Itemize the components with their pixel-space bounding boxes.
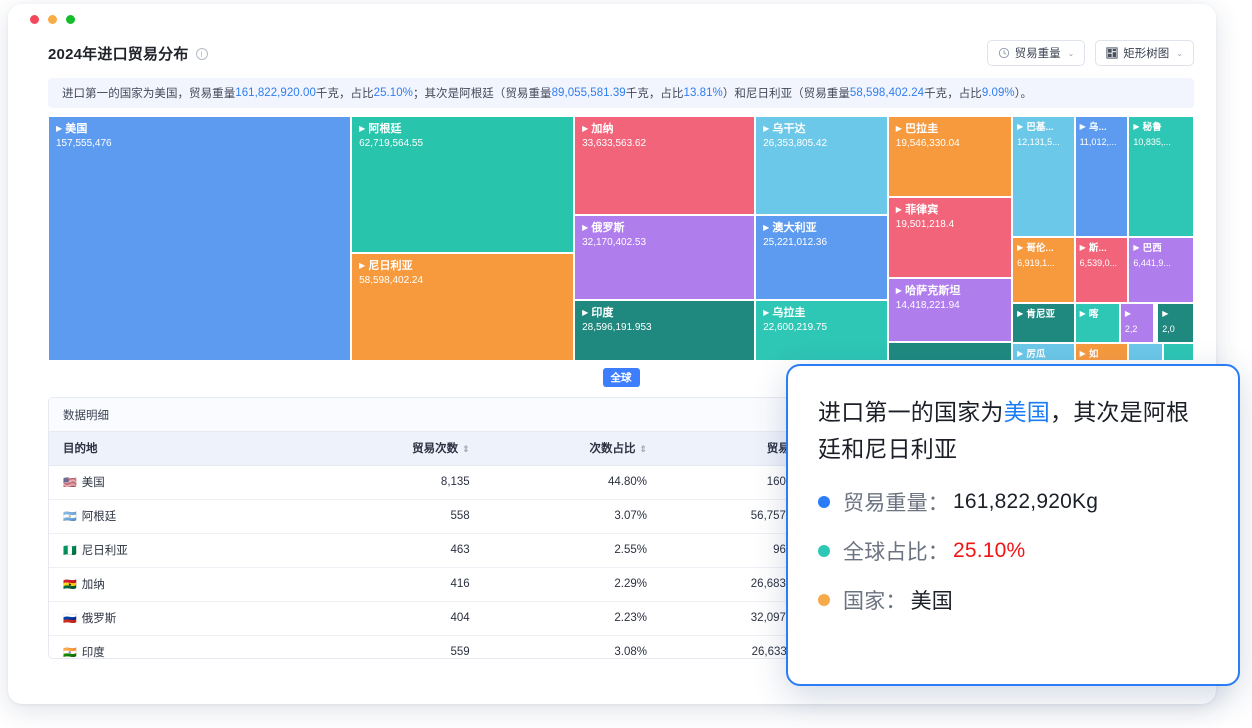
treemap-tile-label: ▶阿根廷 [359, 123, 573, 136]
treemap-tile[interactable] [1128, 343, 1162, 361]
table-cell-dest: 🇺🇸美国 [49, 465, 306, 499]
summary-part-2: 千克，占比 [316, 85, 374, 101]
treemap-tile-value: 2,2 [1125, 322, 1153, 336]
chevron-down-icon: ⌄ [1176, 49, 1183, 58]
treemap-tile[interactable]: ▶乌干达26,353,805.42 [755, 116, 888, 215]
country-name-label: 加纳 [82, 579, 105, 591]
legend-dot-icon [818, 594, 830, 606]
play-triangle-icon: ▶ [763, 223, 769, 232]
table-header-label: 贸易次数 [412, 443, 458, 455]
treemap-chart[interactable]: ▶美国157,555,476▶阿根廷62,719,564.55▶尼日利亚58,5… [48, 116, 1194, 361]
breadcrumb-item-global[interactable]: 全球 [603, 368, 640, 387]
play-triangle-icon: ▶ [1017, 309, 1023, 318]
treemap-tile-label: ▶肯尼亚 [1017, 308, 1074, 321]
country-name-label: 美国 [82, 477, 105, 489]
treemap-tile[interactable]: ▶斯...6,539,0... [1075, 237, 1129, 303]
clock-icon [998, 47, 1010, 59]
table-cell-cpct: 2.29% [484, 567, 661, 601]
country-name-label: 印度 [82, 647, 105, 659]
treemap-tile[interactable]: ▶阿根廷62,719,564.55 [351, 116, 574, 253]
treemap-tile[interactable]: ▶哥伦...6,919,1... [1012, 237, 1075, 303]
treemap-tile-value: 22,600,219.75 [763, 321, 887, 335]
chart-tooltip-card: 进口第一的国家为美国，其次是阿根廷和尼日利亚 贸易重量：161,822,920K… [786, 364, 1240, 686]
chevron-down-icon: ⌄ [1068, 49, 1075, 58]
table-cell-count: 416 [306, 567, 483, 601]
tooltip-row-value: 25.10% [953, 539, 1025, 563]
tooltip-row: 贸易重量：161,822,920Kg [818, 487, 1208, 517]
window-titlebar [8, 4, 1216, 32]
tooltip-row: 国家：美国 [818, 585, 1208, 615]
table-header-dest: 目的地 [49, 432, 306, 465]
treemap-tile[interactable]: ▶尼日利亚58,598,402.24 [351, 253, 574, 361]
country-name-label: 尼日利亚 [82, 545, 128, 557]
page-title: 2024年进口贸易分布 [48, 43, 189, 64]
treemap-tile-label: ▶乌干达 [763, 123, 887, 136]
treemap-tile-value: 32,170,402.53 [582, 236, 754, 250]
treemap-tile[interactable]: ▶乌拉圭22,600,219.75 [755, 300, 888, 361]
table-cell-cpct: 2.23% [484, 601, 661, 635]
treemap-tile[interactable]: ▶乌...11,012,... [1075, 116, 1129, 237]
minimize-button[interactable] [48, 15, 57, 24]
play-triangle-icon: ▶ [763, 308, 769, 317]
treemap-tile-label: ▶ [1125, 308, 1153, 321]
country-flag-icon: 🇺🇸 [63, 477, 77, 489]
treemap-tile-label: ▶如 [1080, 348, 1128, 361]
table-cell-count: 559 [306, 635, 483, 659]
treemap-tile-value: 12,131,5... [1017, 135, 1074, 149]
treemap-tile[interactable]: ▶菲律宾19,501,218.4 [888, 197, 1012, 278]
table-cell-dest: 🇳🇬尼日利亚 [49, 533, 306, 567]
country-flag-icon: 🇦🇷 [63, 511, 77, 523]
legend-dot-icon [818, 496, 830, 508]
tooltip-row-value: 美国 [911, 585, 953, 615]
treemap-tile-label: ▶厉瓜 [1017, 348, 1074, 361]
table-cell-dest: 🇷🇺俄罗斯 [49, 601, 306, 635]
card-header: 2024年进口贸易分布 i 贸易重量 ⌄ [8, 32, 1216, 74]
table-cell-dest: 🇮🇳印度 [49, 635, 306, 659]
treemap-tile-label: ▶喀 [1080, 308, 1119, 321]
tooltip-title-highlight: 美国 [1004, 399, 1050, 425]
treemap-tile-label: ▶ [1162, 308, 1193, 321]
table-cell-cpct: 2.55% [484, 533, 661, 567]
summary-value-weight-3: 58,598,402.24 [850, 87, 924, 99]
summary-value-weight-2: 89,055,581.39 [552, 87, 626, 99]
treemap-tile-value: 2,0 [1162, 322, 1193, 336]
play-triangle-icon: ▶ [359, 124, 365, 133]
summary-part-4: 千克，占比 [626, 85, 684, 101]
play-triangle-icon: ▶ [1162, 309, 1168, 318]
play-triangle-icon: ▶ [582, 124, 588, 133]
close-button[interactable] [30, 15, 39, 24]
summary-part-1: 进口第一的国家为美国，贸易重量 [62, 85, 235, 101]
treemap-tile-label: ▶巴西 [1133, 242, 1193, 255]
country-flag-icon: 🇬🇭 [63, 579, 77, 591]
treemap-tile-value: 19,501,218.4 [896, 218, 1011, 232]
play-triangle-icon: ▶ [582, 308, 588, 317]
play-triangle-icon: ▶ [1017, 122, 1023, 131]
summary-part-5: ）和尼日利亚（贸易重量 [723, 85, 850, 101]
summary-part-3: ；其次是阿根廷（贸易重量 [413, 85, 552, 101]
table-header-label: 次数占比 [589, 443, 635, 455]
treemap-tile-label: ▶加纳 [582, 123, 754, 136]
tooltip-rows: 贸易重量：161,822,920Kg全球占比：25.10%国家：美国 [818, 487, 1208, 615]
treemap-tile-label: ▶乌拉圭 [763, 307, 887, 320]
table-cell-dest: 🇬🇭加纳 [49, 567, 306, 601]
treemap-container: ▶美国157,555,476▶阿根廷62,719,564.55▶尼日利亚58,5… [48, 116, 1194, 361]
table-header-count[interactable]: 贸易次数⇕ [306, 432, 483, 465]
play-triangle-icon: ▶ [582, 223, 588, 232]
treemap-tile-value: 10,835,... [1133, 135, 1193, 149]
treemap-tile[interactable] [1163, 343, 1194, 361]
treemap-tile-value: 11,012,... [1080, 135, 1128, 149]
table-cell-count: 8,135 [306, 465, 483, 499]
treemap-tile[interactable]: ▶巴拉圭19,546,330.04 [888, 116, 1012, 197]
table-header-label: 目的地 [63, 443, 98, 455]
treemap-tile-value: 62,719,564.55 [359, 137, 573, 151]
treemap-tile-value: 28,596,191.953 [582, 321, 754, 335]
treemap-tile-value: 25,221,012.36 [763, 236, 887, 250]
treemap-icon [1106, 47, 1118, 59]
header-actions: 贸易重量 ⌄ 矩形树图 ⌄ [987, 40, 1194, 66]
play-triangle-icon: ▶ [1017, 243, 1023, 252]
treemap-tile-value: 26,353,805.42 [763, 137, 887, 151]
legend-dot-icon [818, 545, 830, 557]
table-cell-count: 463 [306, 533, 483, 567]
sort-arrows-icon[interactable]: ⇕ [462, 444, 470, 454]
tooltip-row-label: 贸易重量： [843, 487, 949, 517]
table-cell-count: 404 [306, 601, 483, 635]
table-cell-cpct: 3.07% [484, 499, 661, 533]
play-triangle-icon: ▶ [896, 205, 902, 214]
treemap-tile-value: 14,418,221.94 [896, 299, 1011, 313]
treemap-tile-value: 33,633,563.62 [582, 137, 754, 151]
play-triangle-icon: ▶ [1133, 122, 1139, 131]
treemap-tile-value: 6,441,9... [1133, 256, 1193, 270]
treemap-tile[interactable]: ▶巴西6,441,9... [1128, 237, 1194, 303]
play-triangle-icon: ▶ [1133, 243, 1139, 252]
treemap-tile[interactable]: ▶2,2 [1120, 303, 1154, 343]
play-triangle-icon: ▶ [1080, 349, 1086, 358]
treemap-tile-label: ▶美国 [56, 123, 350, 136]
summary-banner: 进口第一的国家为美国，贸易重量161,822,920.00千克，占比25.10%… [48, 78, 1194, 108]
summary-part-7: ）。 [1015, 85, 1032, 101]
maximize-button[interactable] [66, 15, 75, 24]
treemap-tile-value: 6,919,1... [1017, 256, 1074, 270]
table-cell-dest: 🇦🇷阿根廷 [49, 499, 306, 533]
charttype-selector-label: 矩形树图 [1123, 45, 1169, 61]
treemap-tile[interactable]: ▶印度28,596,191.953 [574, 300, 755, 361]
tooltip-title: 进口第一的国家为美国，其次是阿根廷和尼日利亚 [818, 394, 1208, 468]
metric-selector-label: 贸易重量 [1015, 45, 1061, 61]
treemap-tile[interactable]: ▶澳大利亚25,221,012.36 [755, 215, 888, 300]
treemap-tile-label: ▶巴拉圭 [896, 123, 1011, 136]
table-cell-cpct: 3.08% [484, 635, 661, 659]
treemap-tile-label: ▶尼日利亚 [359, 260, 573, 273]
play-triangle-icon: ▶ [763, 124, 769, 133]
treemap-tile-label: ▶秘鲁 [1133, 121, 1193, 134]
summary-value-share-2: 13.81% [684, 87, 723, 99]
treemap-tile[interactable]: ▶肯尼亚 [1012, 303, 1075, 343]
treemap-tile-label: ▶俄罗斯 [582, 222, 754, 235]
country-flag-icon: 🇷🇺 [63, 613, 77, 625]
play-triangle-icon: ▶ [56, 124, 62, 133]
country-flag-icon: 🇮🇳 [63, 647, 77, 659]
treemap-tile[interactable]: ▶巴基...12,131,5... [1012, 116, 1075, 237]
treemap-tile[interactable]: ▶俄罗斯32,170,402.53 [574, 215, 755, 300]
country-name-label: 阿根廷 [82, 511, 117, 523]
treemap-tile[interactable]: ▶美国157,555,476 [48, 116, 351, 361]
treemap-tile-value: 157,555,476 [56, 137, 350, 151]
treemap-tile-label: ▶斯... [1080, 242, 1128, 255]
table-cell-cpct: 44.80% [484, 465, 661, 499]
summary-value-share: 25.10% [374, 87, 413, 99]
metric-selector-button[interactable]: 贸易重量 ⌄ [987, 40, 1086, 66]
table-cell-count: 558 [306, 499, 483, 533]
treemap-tile-label: ▶巴基... [1017, 121, 1074, 134]
country-name-label: 俄罗斯 [82, 613, 117, 625]
treemap-tile-value: 58,598,402.24 [359, 274, 573, 288]
info-circle-icon[interactable]: i [196, 48, 208, 60]
play-triangle-icon: ▶ [1080, 243, 1086, 252]
treemap-tile-value: 6,539,0... [1080, 256, 1128, 270]
treemap-tile-label: ▶澳大利亚 [763, 222, 887, 235]
treemap-tile[interactable]: ▶2,0 [1157, 303, 1194, 343]
play-triangle-icon: ▶ [896, 286, 902, 295]
summary-value-weight: 161,822,920.00 [235, 87, 316, 99]
country-flag-icon: 🇳🇬 [63, 545, 77, 557]
play-triangle-icon: ▶ [1125, 309, 1131, 318]
treemap-tile[interactable]: ▶喀 [1075, 303, 1120, 343]
treemap-tile-label: ▶印度 [582, 307, 754, 320]
play-triangle-icon: ▶ [896, 124, 902, 133]
treemap-tile-value: 19,546,330.04 [896, 137, 1011, 151]
treemap-tile[interactable] [888, 342, 1012, 361]
play-triangle-icon: ▶ [1080, 309, 1086, 318]
treemap-tile[interactable]: ▶秘鲁10,835,... [1128, 116, 1194, 237]
treemap-tile[interactable]: ▶如 [1075, 343, 1129, 361]
table-header-cpct[interactable]: 次数占比⇕ [484, 432, 661, 465]
tooltip-row: 全球占比：25.10% [818, 536, 1208, 566]
treemap-tile[interactable]: ▶哈萨克斯坦14,418,221.94 [888, 278, 1012, 342]
treemap-tile[interactable]: ▶加纳33,633,563.62 [574, 116, 755, 215]
charttype-selector-button[interactable]: 矩形树图 ⌄ [1095, 40, 1194, 66]
summary-value-share-3: 9.09% [982, 87, 1015, 99]
play-triangle-icon: ▶ [1080, 122, 1086, 131]
tooltip-row-value: 161,822,920Kg [953, 490, 1098, 514]
treemap-tile[interactable]: ▶厉瓜 [1012, 343, 1075, 361]
tooltip-row-label: 国家： [843, 585, 907, 615]
treemap-tile-label: ▶哥伦... [1017, 242, 1074, 255]
play-triangle-icon: ▶ [1017, 349, 1023, 358]
tooltip-title-pre: 进口第一的国家为 [818, 399, 1004, 425]
treemap-tile-label: ▶菲律宾 [896, 204, 1011, 217]
treemap-tile-label: ▶乌... [1080, 121, 1128, 134]
play-triangle-icon: ▶ [359, 261, 365, 270]
summary-part-6: 千克，占比 [924, 85, 982, 101]
tooltip-row-label: 全球占比： [843, 536, 949, 566]
sort-arrows-icon[interactable]: ⇕ [639, 444, 647, 454]
treemap-tile-label: ▶哈萨克斯坦 [896, 285, 1011, 298]
